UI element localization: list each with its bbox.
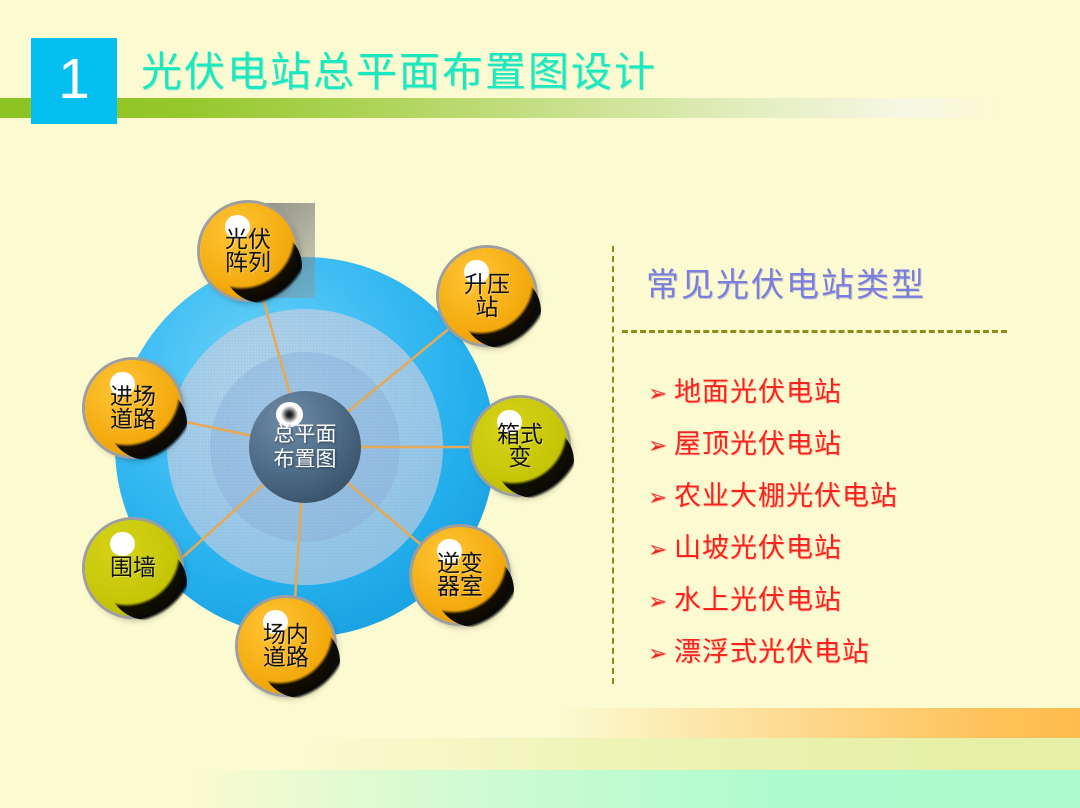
- types-panel-heading: 常见光伏电站类型: [646, 258, 926, 306]
- node-access-road-label: 进场 道路: [85, 385, 181, 432]
- types-list: ➢ 地面光伏电站 ➢ 屋顶光伏电站 ➢ 农业大棚光伏电站 ➢ 山坡光伏电站 ➢ …: [648, 370, 1048, 682]
- bullet-arrow-icon: ➢: [648, 641, 674, 667]
- list-item[interactable]: ➢ 漂浮式光伏电站: [648, 630, 1048, 682]
- node-inverter-room[interactable]: 逆变 器室: [412, 527, 508, 623]
- types-panel-divider: [622, 330, 1007, 333]
- list-item-label: 漂浮式光伏电站: [674, 630, 870, 669]
- node-fence-wall-label: 围墙: [85, 556, 181, 579]
- node-access-road[interactable]: 进场 道路: [85, 360, 181, 456]
- list-item-label: 农业大棚光伏电站: [674, 474, 898, 513]
- section-number-label: 1: [58, 51, 90, 112]
- node-center-label: 总平面 布置图: [274, 422, 337, 472]
- node-inverter-room-label: 逆变 器室: [412, 552, 508, 599]
- list-item[interactable]: ➢ 水上光伏电站: [648, 578, 1048, 630]
- radial-diagram: 光伏 阵列 升压 站 箱式 变 逆变 器室 场内 道路: [55, 175, 605, 720]
- node-step-up-label: 升压 站: [439, 273, 535, 320]
- bullet-arrow-icon: ➢: [648, 381, 674, 407]
- slide-canvas: 1 光伏电站总平面布置图设计: [0, 0, 1080, 808]
- node-pv-array-label: 光伏 阵列: [200, 228, 296, 275]
- node-site-road[interactable]: 场内 道路: [238, 598, 334, 694]
- list-item[interactable]: ➢ 屋顶光伏电站: [648, 422, 1048, 474]
- node-step-up[interactable]: 升压 站: [439, 248, 535, 344]
- node-pv-array[interactable]: 光伏 阵列: [200, 203, 296, 299]
- node-site-road-label: 场内 道路: [238, 623, 334, 670]
- header-rule: [0, 98, 1010, 118]
- bullet-arrow-icon: ➢: [648, 433, 674, 459]
- node-box-transformer-label: 箱式 变: [472, 423, 568, 470]
- list-item[interactable]: ➢ 地面光伏电站: [648, 370, 1048, 422]
- list-item-label: 山坡光伏电站: [674, 526, 842, 565]
- list-item-label: 屋顶光伏电站: [674, 422, 842, 461]
- bullet-arrow-icon: ➢: [648, 589, 674, 615]
- bullet-arrow-icon: ➢: [648, 537, 674, 563]
- page-title: 光伏电站总平面布置图设计: [141, 38, 657, 98]
- list-item[interactable]: ➢ 农业大棚光伏电站: [648, 474, 1048, 526]
- node-center-master-plan[interactable]: 总平面 布置图: [249, 391, 361, 503]
- bullet-arrow-icon: ➢: [648, 485, 674, 511]
- decorative-band-lime: [0, 738, 1080, 770]
- list-item[interactable]: ➢ 山坡光伏电站: [648, 526, 1048, 578]
- node-box-transformer[interactable]: 箱式 变: [472, 398, 568, 494]
- list-item-label: 水上光伏电站: [674, 578, 842, 617]
- section-number-badge: 1: [31, 38, 117, 124]
- list-item-label: 地面光伏电站: [674, 370, 842, 409]
- node-fence-wall[interactable]: 围墙: [85, 520, 181, 616]
- decorative-band-mint: [0, 770, 1080, 808]
